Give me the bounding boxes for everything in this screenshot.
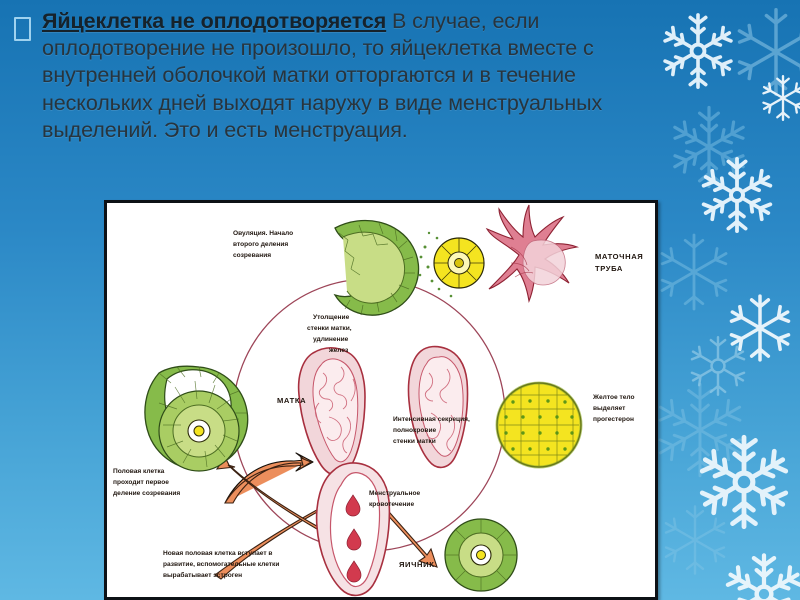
- bullet-paragraph-block: Яйцеклетка не оплодотворяется В случае, …: [14, 8, 614, 144]
- label-fallopian-tube: МАТОЧНАЯ ТРУБА: [595, 252, 643, 273]
- label-ovulation: Овуляция. Начало второго деления созрева…: [233, 230, 293, 259]
- snowflake-icon: [650, 228, 738, 316]
- snowflake-icon: [722, 290, 798, 366]
- label-first-maturation-division: Половая клетка проходит первое деление с…: [113, 468, 180, 497]
- snowflake-icon: [694, 152, 780, 238]
- svg-text:созревания: созревания: [233, 252, 271, 259]
- svg-text:выделяет: выделяет: [593, 405, 626, 412]
- svg-text:проходит первое: проходит первое: [113, 479, 169, 486]
- svg-text:развитие, вспомогательные клет: развитие, вспомогательные клетки: [163, 561, 279, 568]
- cycle-diagram-svg: Овуляция. Начало второго деления созрева…: [107, 203, 655, 597]
- svg-text:стенки матки: стенки матки: [393, 438, 436, 445]
- label-corpus-luteum: Желтое тело выделяет прогестерон: [592, 394, 635, 423]
- label-uterus: МАТКА: [277, 396, 306, 405]
- snowflake-icon: [655, 8, 741, 94]
- fallopian-tube-illustration: [487, 205, 577, 301]
- snowflake-icon: [648, 378, 752, 482]
- svg-text:ЯИЧНИК: ЯИЧНИК: [399, 560, 434, 569]
- ovulating-follicle: [335, 220, 419, 315]
- snowflake-icon: [655, 500, 735, 580]
- snowflake-icon: [682, 330, 754, 402]
- paragraph-lead: Яйцеклетка не оплодотворяется: [42, 9, 386, 33]
- svg-text:прогестерон: прогестерон: [593, 416, 634, 423]
- new-germ-cell: [445, 519, 517, 591]
- svg-text:Утолщение: Утолщение: [313, 314, 350, 321]
- cycle-arrow-top-left: [225, 453, 313, 503]
- svg-text:ТРУБА: ТРУБА: [595, 264, 623, 273]
- snowflake-icon: [728, 4, 800, 100]
- svg-text:Овуляция. Начало: Овуляция. Начало: [233, 230, 293, 237]
- svg-text:Желтое тело: Желтое тело: [592, 394, 635, 401]
- uterus-proliferative: [299, 348, 365, 476]
- svg-text:Новая половая клетка вступает: Новая половая клетка вступает в: [163, 550, 272, 557]
- released-ovum: [419, 232, 484, 297]
- svg-text:деление созревания: деление созревания: [113, 490, 180, 497]
- svg-text:стенки матки,: стенки матки,: [307, 325, 352, 332]
- snowflake-icon: [718, 548, 800, 600]
- growing-follicle: [145, 366, 248, 471]
- svg-text:МАТКА: МАТКА: [277, 396, 306, 405]
- uterus-menstrual: [317, 463, 390, 595]
- corpus-luteum: [497, 383, 581, 467]
- svg-text:второго деления: второго деления: [233, 241, 288, 248]
- snowflake-icon: [692, 430, 796, 534]
- menstrual-cycle-diagram-panel: Овуляция. Начало второго деления созрева…: [104, 200, 658, 600]
- svg-text:Половая клетка: Половая клетка: [113, 468, 165, 475]
- uterus-secretory: [409, 347, 468, 468]
- bullet-box-icon: [14, 17, 31, 41]
- label-new-germ-cell: Новая половая клетка вступает в развитие…: [163, 550, 279, 579]
- snowflake-icon: [662, 100, 756, 194]
- svg-text:кровотечение: кровотечение: [369, 501, 414, 508]
- snowflake-icon: [757, 72, 800, 124]
- svg-text:вырабатывает эстроген: вырабатывает эстроген: [163, 571, 242, 579]
- slide: Яйцеклетка не оплодотворяется В случае, …: [0, 0, 800, 600]
- svg-text:желез: желез: [328, 347, 349, 354]
- svg-text:Менструальное: Менструальное: [369, 490, 420, 497]
- label-ovary: ЯИЧНИК: [399, 560, 434, 569]
- svg-text:удлинение: удлинение: [313, 336, 349, 343]
- svg-text:МАТОЧНАЯ: МАТОЧНАЯ: [595, 252, 643, 261]
- svg-text:полнокровие: полнокровие: [393, 427, 437, 434]
- paragraph-text: Яйцеклетка не оплодотворяется В случае, …: [42, 8, 614, 144]
- svg-text:Интенсивная секреция,: Интенсивная секреция,: [393, 416, 470, 423]
- label-uterine-wall-thickening: Утолщение стенки матки, удлинение желез: [307, 314, 352, 354]
